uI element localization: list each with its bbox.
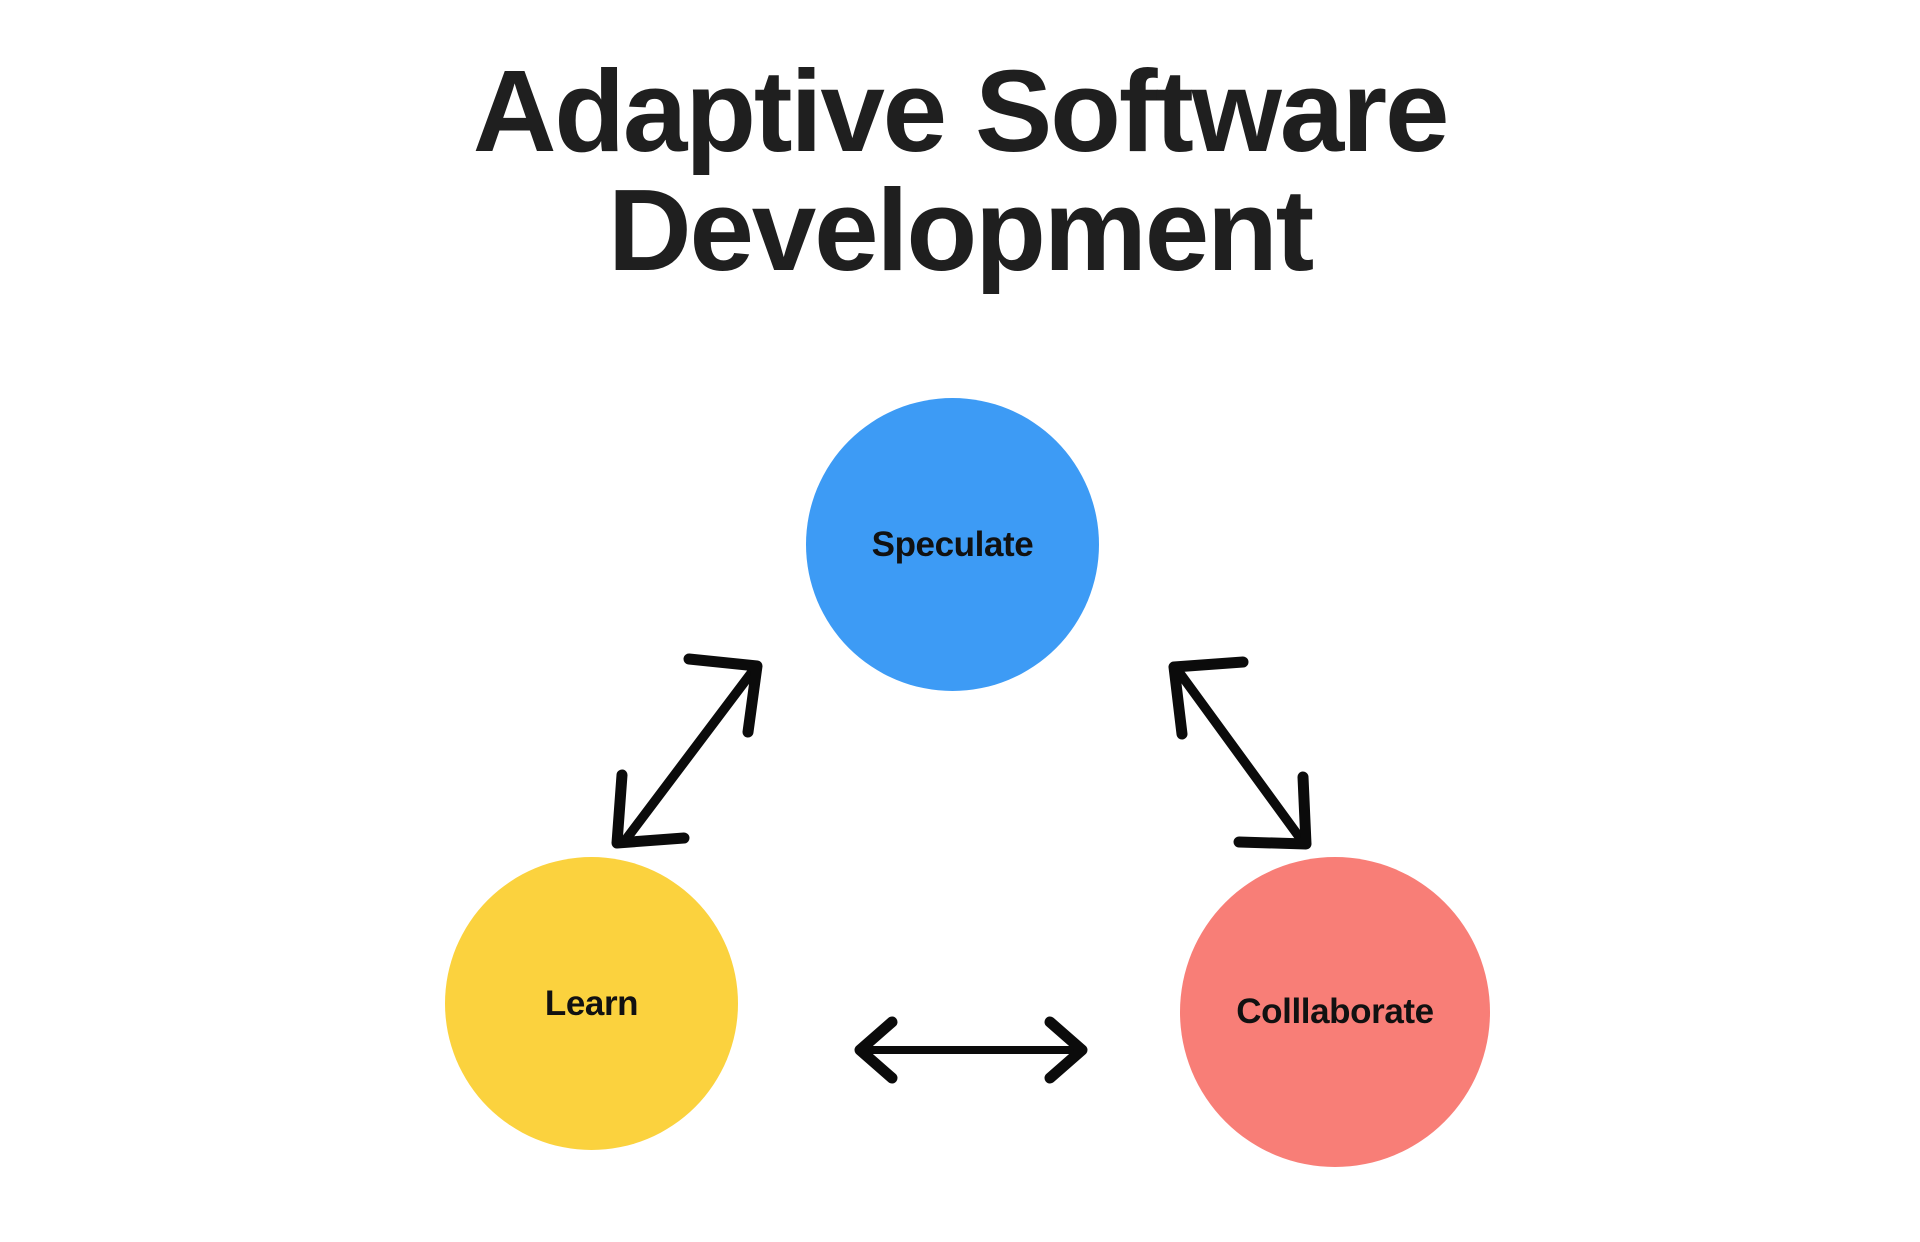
connector-learn-speculate[interactable] — [617, 659, 757, 843]
node-learn[interactable]: Learn — [445, 857, 738, 1150]
node-collaborate[interactable]: Colllaborate — [1180, 857, 1490, 1167]
cycle-diagram: Speculate Learn Colllaborate — [0, 0, 1920, 1242]
node-speculate[interactable]: Speculate — [806, 398, 1099, 691]
node-learn-label: Learn — [545, 984, 638, 1024]
connector-learn-collaborate[interactable] — [860, 1022, 1082, 1078]
slide-canvas: Adaptive Software Development — [0, 0, 1920, 1242]
connector-speculate-collaborate[interactable] — [1174, 662, 1306, 844]
node-speculate-label: Speculate — [872, 525, 1034, 565]
node-collaborate-label: Colllaborate — [1236, 992, 1433, 1032]
